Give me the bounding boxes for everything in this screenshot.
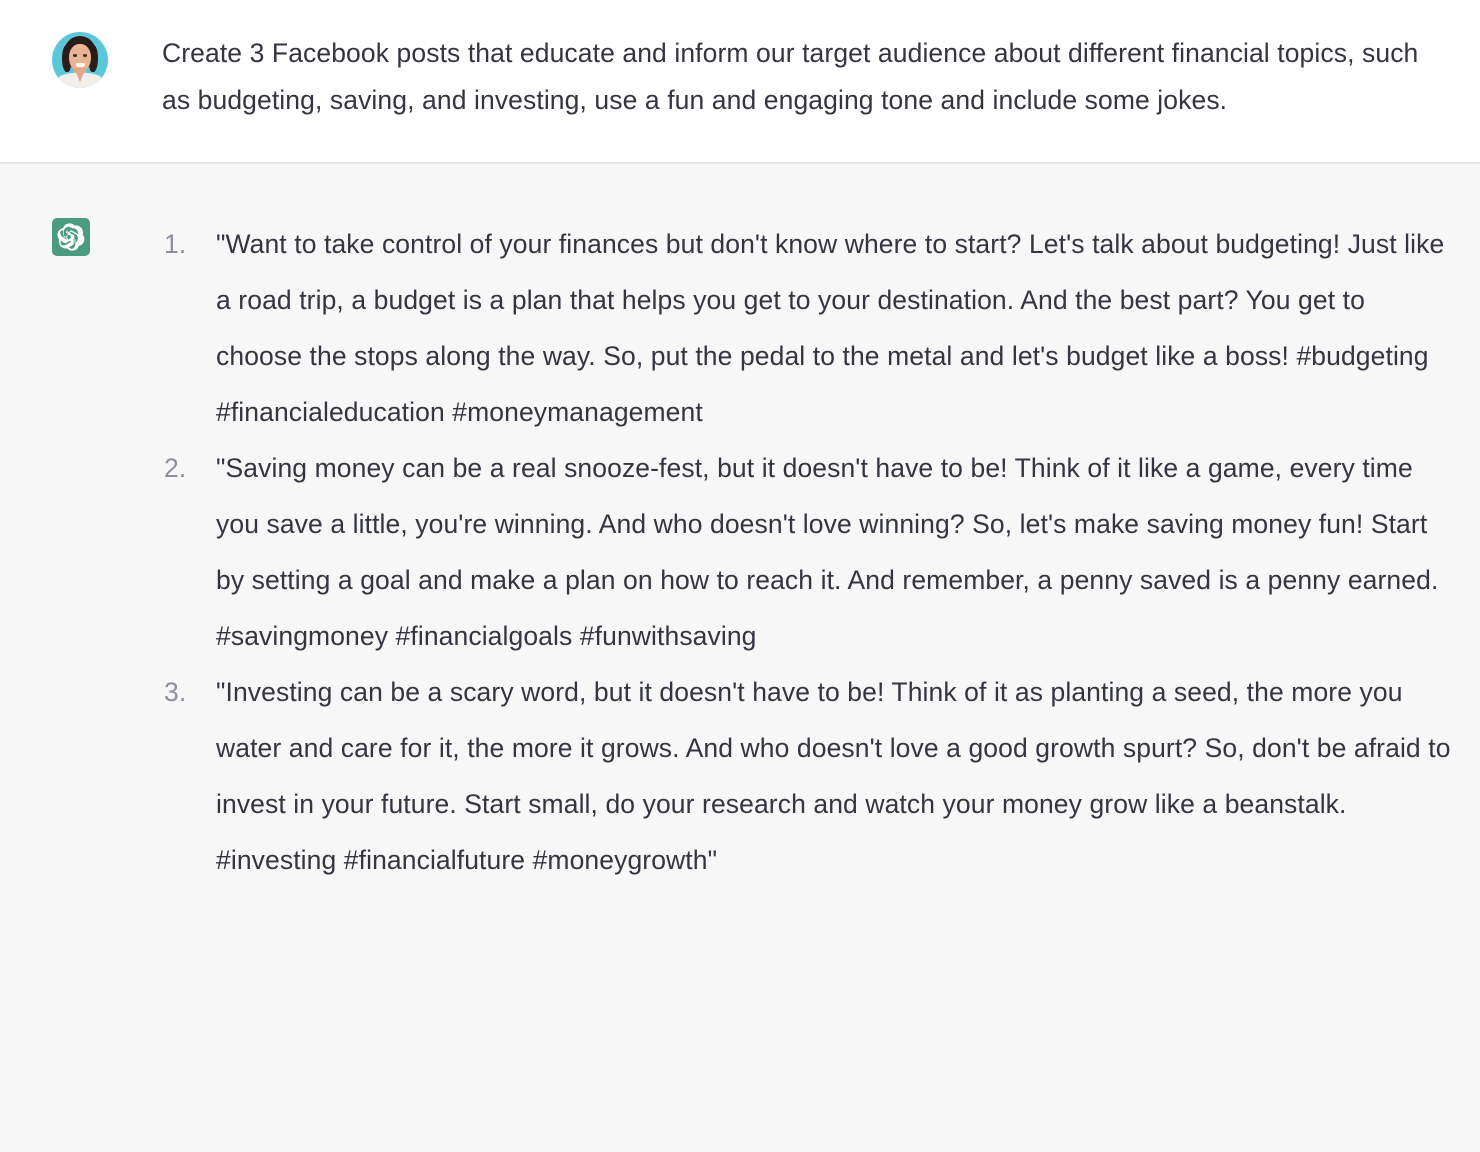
chat-conversation: Create 3 Facebook posts that educate and…	[0, 0, 1480, 1152]
list-item: "Want to take control of your finances b…	[162, 216, 1452, 440]
user-message-row: Create 3 Facebook posts that educate and…	[0, 0, 1480, 164]
avatar-eye-right	[83, 54, 87, 57]
list-item: "Investing can be a scary word, but it d…	[162, 664, 1452, 888]
user-profile-photo-avatar	[52, 32, 108, 88]
user-message-inner: Create 3 Facebook posts that educate and…	[0, 30, 1480, 124]
user-message-text: Create 3 Facebook posts that educate and…	[162, 30, 1424, 124]
assistant-message-row: "Want to take control of your finances b…	[0, 164, 1480, 1152]
assistant-avatar-slot	[52, 216, 162, 256]
list-item: "Saving money can be a real snooze-fest,…	[162, 440, 1452, 664]
chatgpt-logo-icon	[52, 218, 90, 256]
assistant-message-inner: "Want to take control of your finances b…	[0, 216, 1480, 888]
avatar-mouth	[76, 63, 85, 67]
avatar-eye-left	[73, 54, 77, 57]
assistant-message-body: "Want to take control of your finances b…	[162, 216, 1452, 888]
user-avatar-slot	[52, 30, 162, 88]
facebook-posts-list: "Want to take control of your finances b…	[162, 216, 1452, 888]
